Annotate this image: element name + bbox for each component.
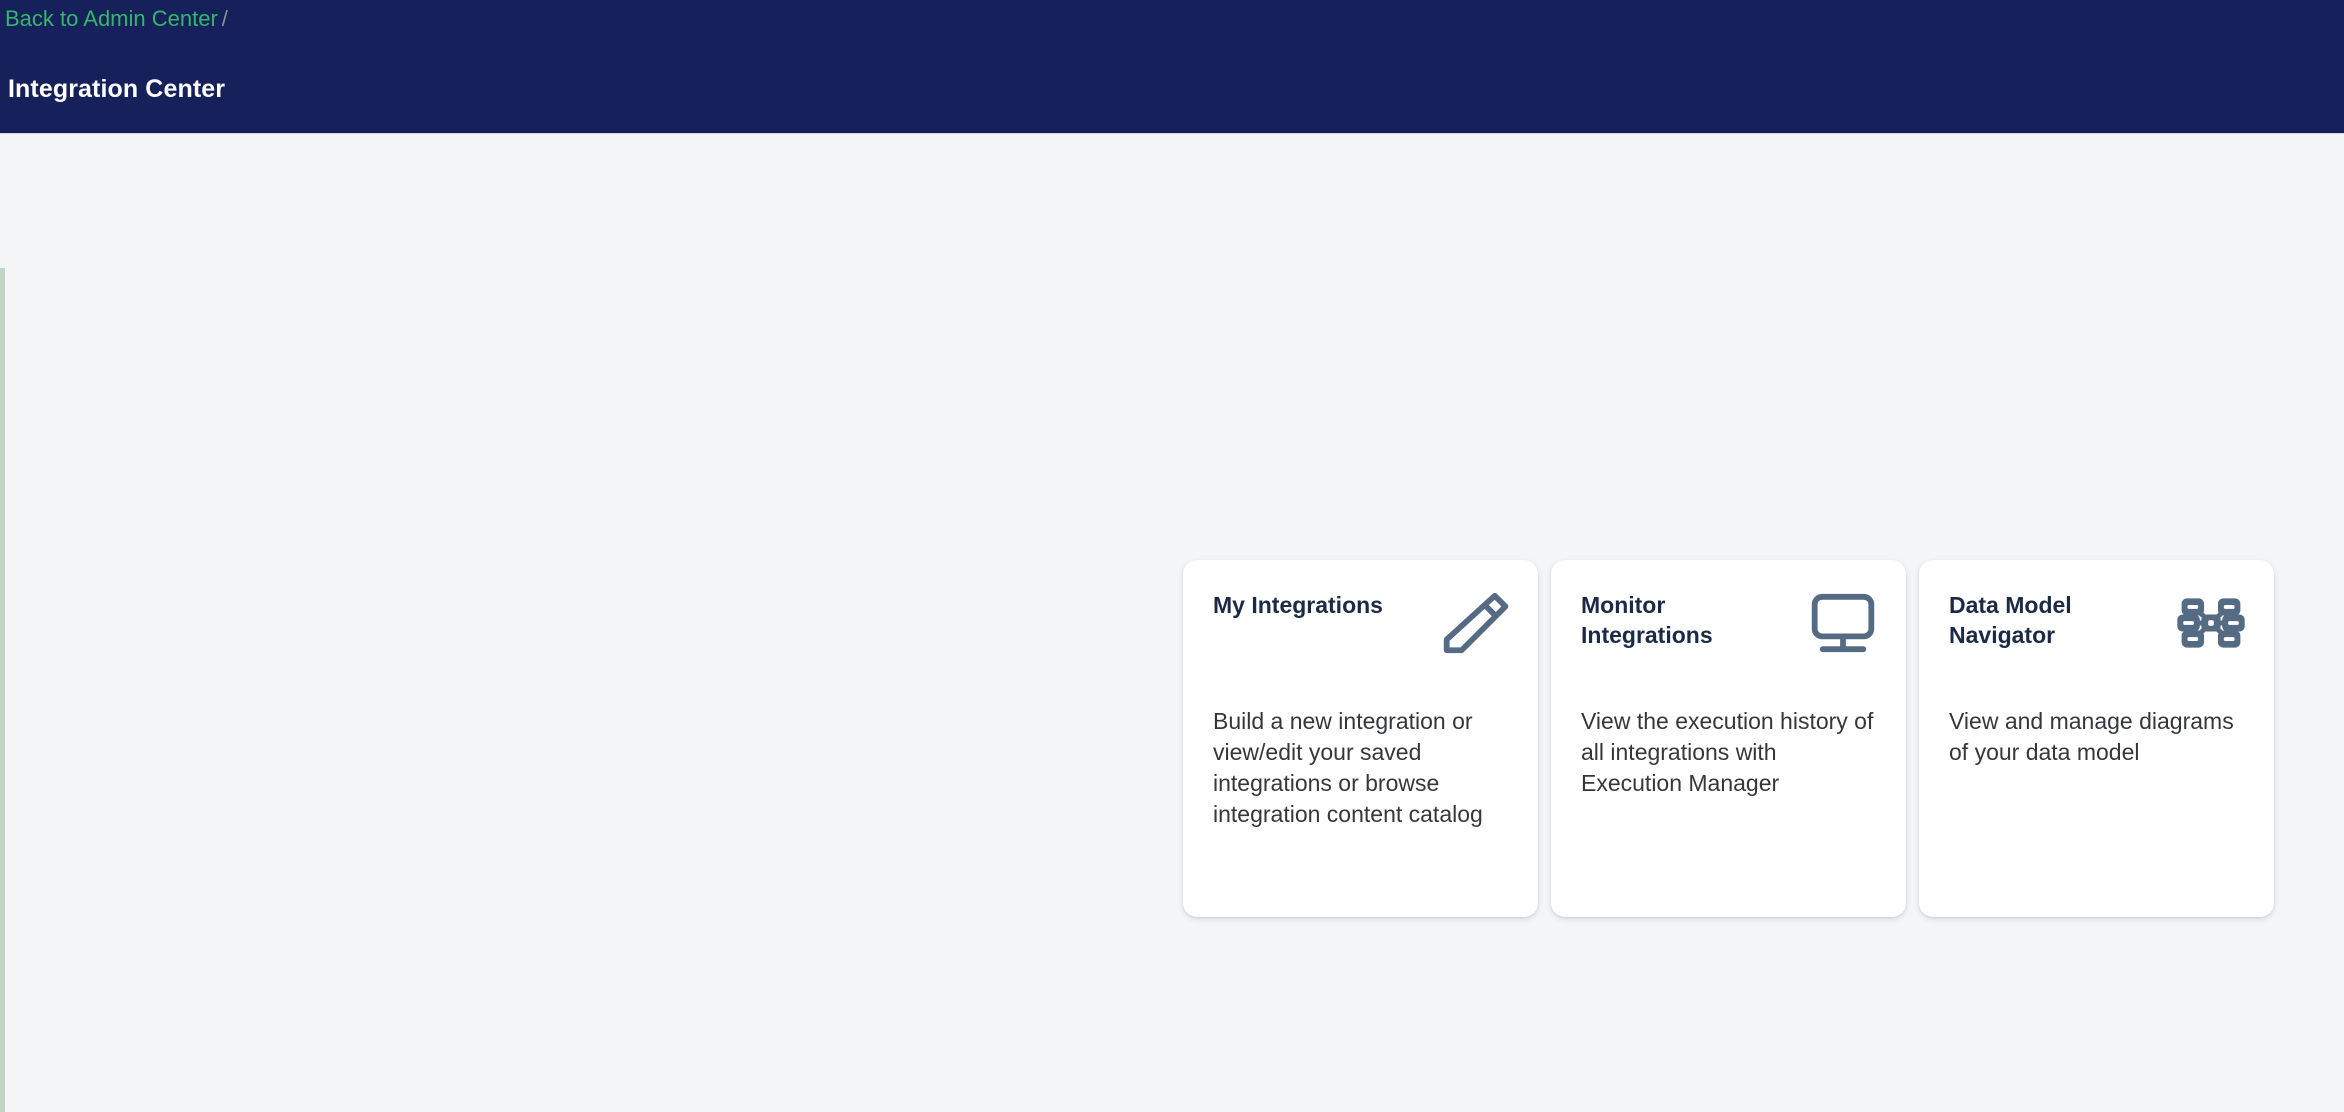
page-header: Back to Admin Center/ Integration Center: [0, 0, 2344, 134]
card-title: Monitor Integrations: [1581, 590, 1776, 650]
card-my-integrations[interactable]: My Integrations Build a new integration …: [1183, 560, 1538, 917]
page-root: Back to Admin Center/ Integration Center…: [0, 0, 2344, 978]
card-header: Monitor Integrations: [1581, 590, 1878, 668]
monitor-icon: [1808, 592, 1878, 654]
card-data-model-navigator[interactable]: Data Model Navigator: [1919, 560, 2274, 917]
breadcrumb-separator: /: [218, 6, 228, 31]
card-header: Data Model Navigator: [1949, 590, 2246, 668]
page-title: Integration Center: [8, 74, 225, 104]
main-content: My Integrations Build a new integration …: [0, 134, 2344, 977]
card-description: View and manage diagrams of your data mo…: [1949, 706, 2246, 768]
data-model-network-icon: [2176, 592, 2246, 654]
card-title: My Integrations: [1213, 590, 1383, 620]
tile-card-row: My Integrations Build a new integration …: [1183, 560, 2274, 917]
breadcrumb-back-to-admin-center-link[interactable]: Back to Admin Center: [5, 6, 218, 31]
card-title: Data Model Navigator: [1949, 590, 2144, 650]
card-header: My Integrations: [1213, 590, 1510, 668]
left-edge-strip: [0, 268, 5, 1112]
card-description: Build a new integration or view/edit you…: [1213, 706, 1510, 830]
card-monitor-integrations[interactable]: Monitor Integrations View the execution …: [1551, 560, 1906, 917]
breadcrumb: Back to Admin Center/: [5, 5, 228, 33]
card-description: View the execution history of all integr…: [1581, 706, 1878, 799]
pencil-icon: [1440, 592, 1510, 654]
